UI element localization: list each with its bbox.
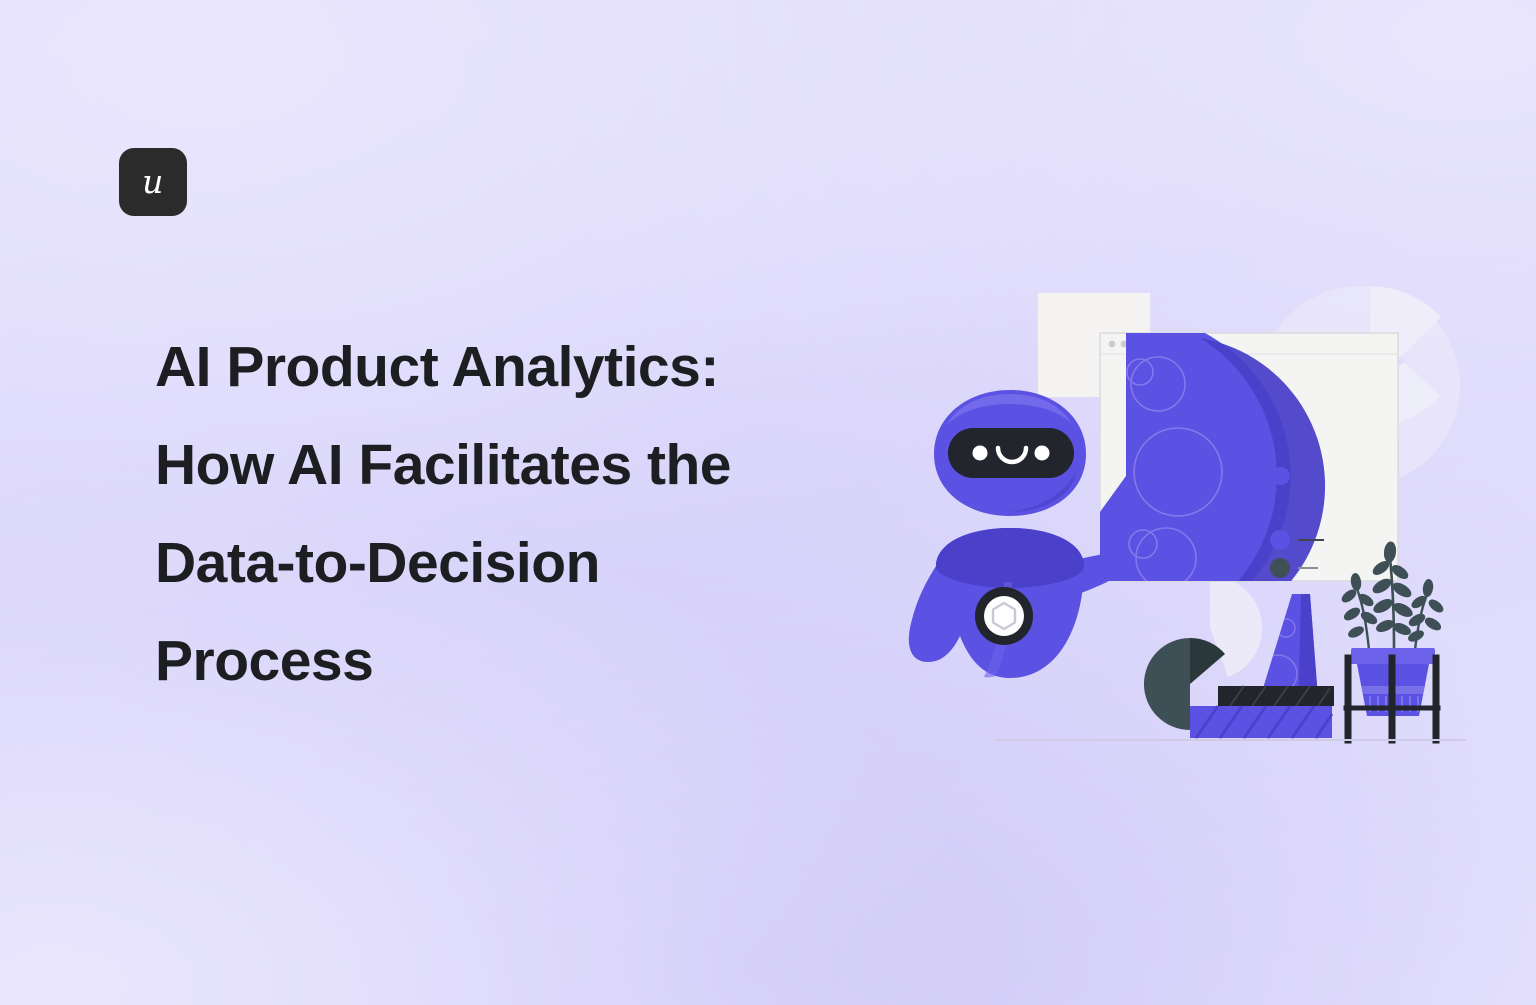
slab-shape[interactable] [1218,686,1334,706]
robot-visor [948,428,1074,478]
robot-chest-badge [975,587,1033,645]
robot-eye-left [973,446,988,461]
userpilot-logo[interactable]: u [119,148,187,216]
page-title-line-1: AI Product Analytics: [155,318,895,416]
pacman-shape[interactable] [1144,638,1190,730]
chart-callout-dot[interactable] [1272,467,1290,485]
page-title: AI Product Analytics: How AI Facilitates… [155,318,895,710]
page-title-line-2: How AI Facilitates the [155,416,895,514]
robot-eye-right [1035,446,1050,461]
page-title-line-4: Process [155,612,895,710]
base-shape[interactable] [1190,706,1332,738]
hero-banner: u AI Product Analytics: How AI Facilitat… [0,0,1536,1005]
hero-illustration [900,276,1480,746]
logo-letter-u: u [142,165,164,198]
page-title-line-3: Data-to-Decision [155,514,895,612]
